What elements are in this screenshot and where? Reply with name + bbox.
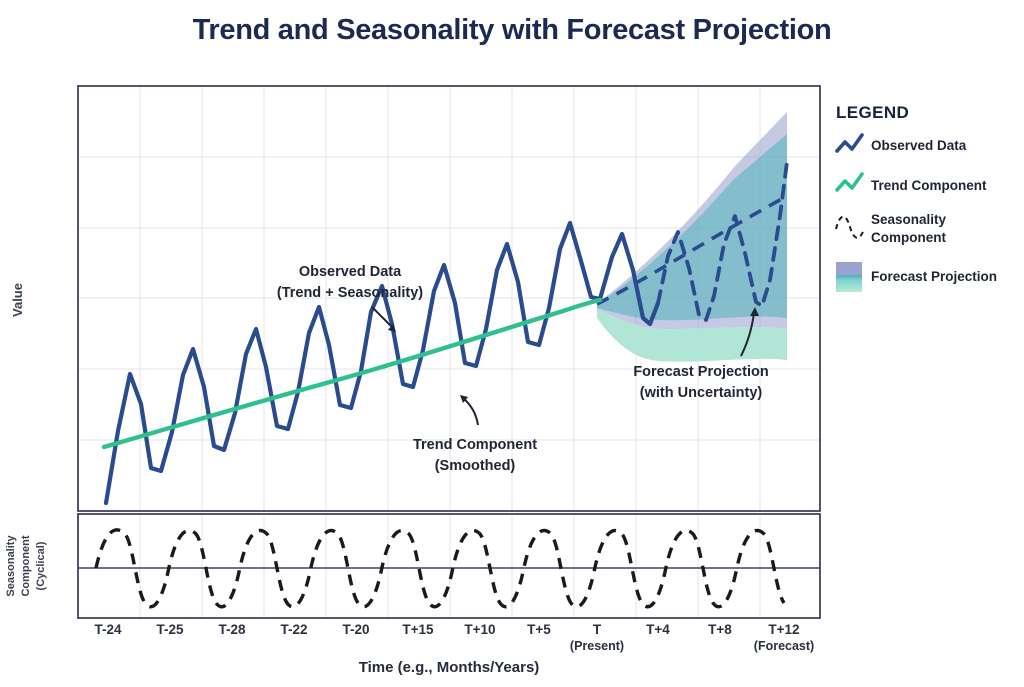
- zigzag-line-icon: [837, 135, 862, 151]
- legend-label-seasonality-component-line1: Seasonality: [871, 212, 947, 227]
- legend-label-seasonality-component-line2: Component: [871, 230, 946, 245]
- chart-container: Trend and Seasonality with Forecast Proj…: [0, 0, 1024, 687]
- x-tick-5: T+15: [402, 622, 434, 637]
- x-tick-8: T: [593, 622, 602, 637]
- trend-component-annotation-line1: Trend Component: [413, 437, 537, 453]
- y-axis-title-main: Value: [10, 283, 25, 317]
- x-tick-8-sub: (Present): [570, 639, 624, 653]
- legend-label-trend-component: Trend Component: [871, 178, 987, 193]
- x-tick-1: T-25: [156, 622, 184, 637]
- y-axis-title-seasonality-line3: (Cyclical): [35, 541, 47, 590]
- x-tick-7: T+5: [527, 622, 551, 637]
- y-axis-title-seasonality-line1: Seasonality: [5, 535, 17, 597]
- x-axis-title: Time (e.g., Months/Years): [359, 659, 540, 676]
- legend-item-observed-data[interactable]: Observed Data: [837, 135, 967, 153]
- zigzag-line-icon: [837, 174, 862, 190]
- wave-dashed-icon: [836, 217, 864, 238]
- observed-data-annotation-line2: (Trend + Seasonality): [277, 285, 423, 301]
- legend-label-forecast-projection: Forecast Projection: [871, 269, 997, 284]
- x-tick-0: T-24: [94, 622, 122, 637]
- x-tick-11-sub: (Forecast): [754, 639, 814, 653]
- x-tick-4: T-20: [342, 622, 369, 637]
- y-axis-title-seasonality-line2: Component: [20, 535, 32, 596]
- x-tick-2: T-28: [218, 622, 246, 637]
- x-tick-3: T-22: [280, 622, 307, 637]
- legend-item-seasonality-component[interactable]: Seasonality Component: [836, 212, 947, 245]
- legend-item-trend-component[interactable]: Trend Component: [837, 174, 987, 193]
- band-swatch-icon: [836, 262, 862, 292]
- seasonality-plot-panel: [78, 514, 820, 618]
- trend-component-annotation-line2: (Smoothed): [435, 458, 516, 474]
- seasonality-plot-background: [78, 514, 820, 618]
- x-tick-11: T+12: [768, 622, 799, 637]
- chart-svg: Observed Data (Trend + Seasonality) Tren…: [0, 0, 1024, 687]
- observed-data-annotation-line1: Observed Data: [299, 264, 402, 280]
- legend-label-observed-data: Observed Data: [871, 138, 967, 153]
- x-tick-9: T+4: [646, 622, 670, 637]
- legend-item-forecast-projection[interactable]: Forecast Projection: [836, 262, 997, 292]
- x-tick-6: T+10: [464, 622, 495, 637]
- forecast-projection-annotation-line1: Forecast Projection: [633, 364, 768, 380]
- x-tick-10: T+8: [708, 622, 732, 637]
- legend: LEGEND Observed Data Trend Component Sea…: [836, 103, 997, 292]
- y-axis-title-seasonality: Seasonality Component (Cyclical): [5, 535, 47, 597]
- legend-title: LEGEND: [836, 103, 909, 122]
- forecast-projection-annotation-line2: (with Uncertainty): [640, 385, 763, 401]
- x-axis-tick-labels: T-24 T-25 T-28 T-22 T-20 T+15 T+10 T+5 T…: [94, 622, 814, 653]
